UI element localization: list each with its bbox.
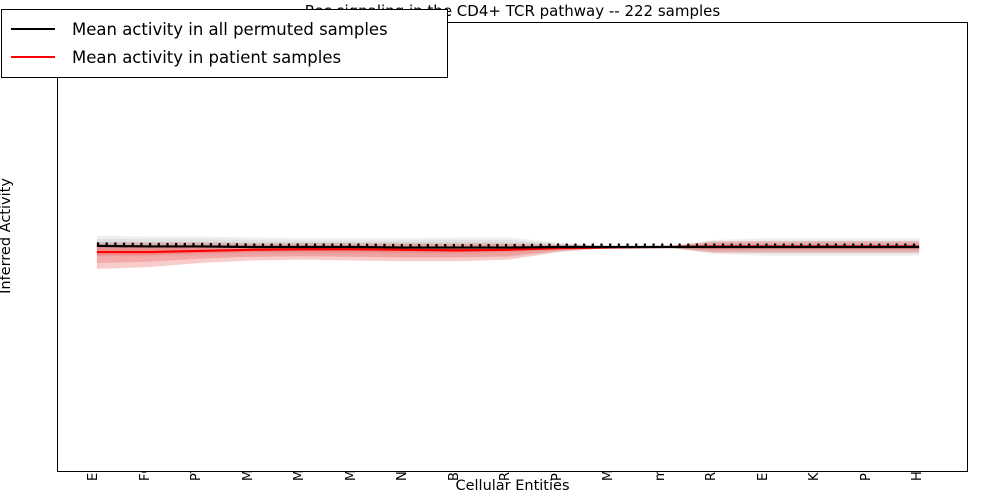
legend-label-permuted: Mean activity in all permuted samples (72, 20, 388, 39)
legend-item[interactable]: Mean activity in all permuted samples (11, 15, 438, 43)
legend-item[interactable]: Mean activity in patient samples (11, 43, 438, 71)
plot-area (57, 22, 968, 472)
x-axis-label: Cellular Entities (57, 478, 968, 494)
figure: Ras signaling in the CD4+ TCR pathway --… (0, 0, 1000, 500)
legend-line-swatch-patient (11, 56, 55, 58)
plot-canvas (58, 23, 967, 471)
legend: Mean activity in all permuted samples Me… (1, 9, 448, 78)
legend-label-patient: Mean activity in patient samples (72, 48, 341, 67)
y-axis-label: Inferred Activity (0, 11, 14, 461)
legend-line-swatch-permuted (11, 28, 55, 30)
